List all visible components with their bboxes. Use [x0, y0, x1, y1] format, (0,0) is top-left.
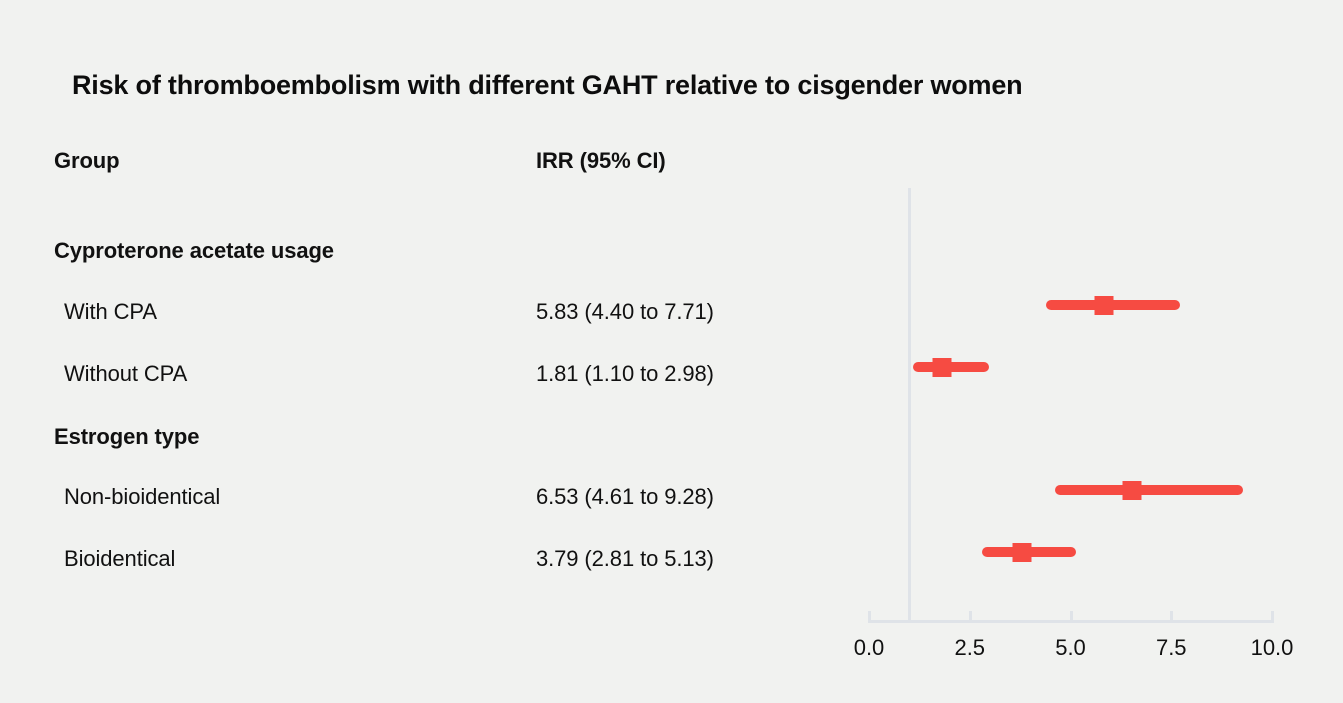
point-estimate-marker — [1094, 296, 1113, 315]
row-label: With CPA — [64, 299, 157, 325]
axis-tick-label: 10.0 — [1251, 635, 1294, 661]
row-label: Non-bioidentical — [64, 484, 220, 510]
row-value-irr: 3.79 (2.81 to 5.13) — [536, 546, 714, 572]
axis-end-cap — [868, 611, 871, 623]
plot-area: 0.02.55.07.510.0 — [840, 180, 1310, 630]
column-header-group: Group — [54, 148, 120, 174]
chart-title-light-text: relative to cisgender women — [665, 70, 1023, 100]
axis-tick-label: 5.0 — [1055, 635, 1086, 661]
group-heading: Cyproterone acetate usage — [54, 238, 334, 264]
row-label: Bioidentical — [64, 546, 175, 572]
row-value-irr: 6.53 (4.61 to 9.28) — [536, 484, 714, 510]
point-estimate-marker — [1123, 481, 1142, 500]
axis-tick — [1170, 611, 1173, 623]
axis-tick-label: 7.5 — [1156, 635, 1187, 661]
axis-end-cap — [1271, 611, 1274, 623]
axis-tick — [969, 611, 972, 623]
chart-title-light — [657, 70, 664, 100]
point-estimate-marker — [1012, 543, 1031, 562]
chart-title: Risk of thromboembolism with different G… — [72, 68, 1302, 102]
point-estimate-marker — [932, 358, 951, 377]
forest-plot-figure: Risk of thromboembolism with different G… — [0, 0, 1343, 703]
axis-tick — [1070, 611, 1073, 623]
axis-tick-label: 2.5 — [954, 635, 985, 661]
row-value-irr: 5.83 (4.40 to 7.71) — [536, 299, 714, 325]
reference-line — [908, 188, 911, 620]
axis-tick-label: 0.0 — [854, 635, 885, 661]
row-label: Without CPA — [64, 361, 187, 387]
chart-title-strong: Risk of thromboembolism with different G… — [72, 70, 657, 100]
column-header-irr: IRR (95% CI) — [536, 148, 666, 174]
row-value-irr: 1.81 (1.10 to 2.98) — [536, 361, 714, 387]
group-heading: Estrogen type — [54, 424, 199, 450]
confidence-interval-bar — [1055, 485, 1243, 495]
